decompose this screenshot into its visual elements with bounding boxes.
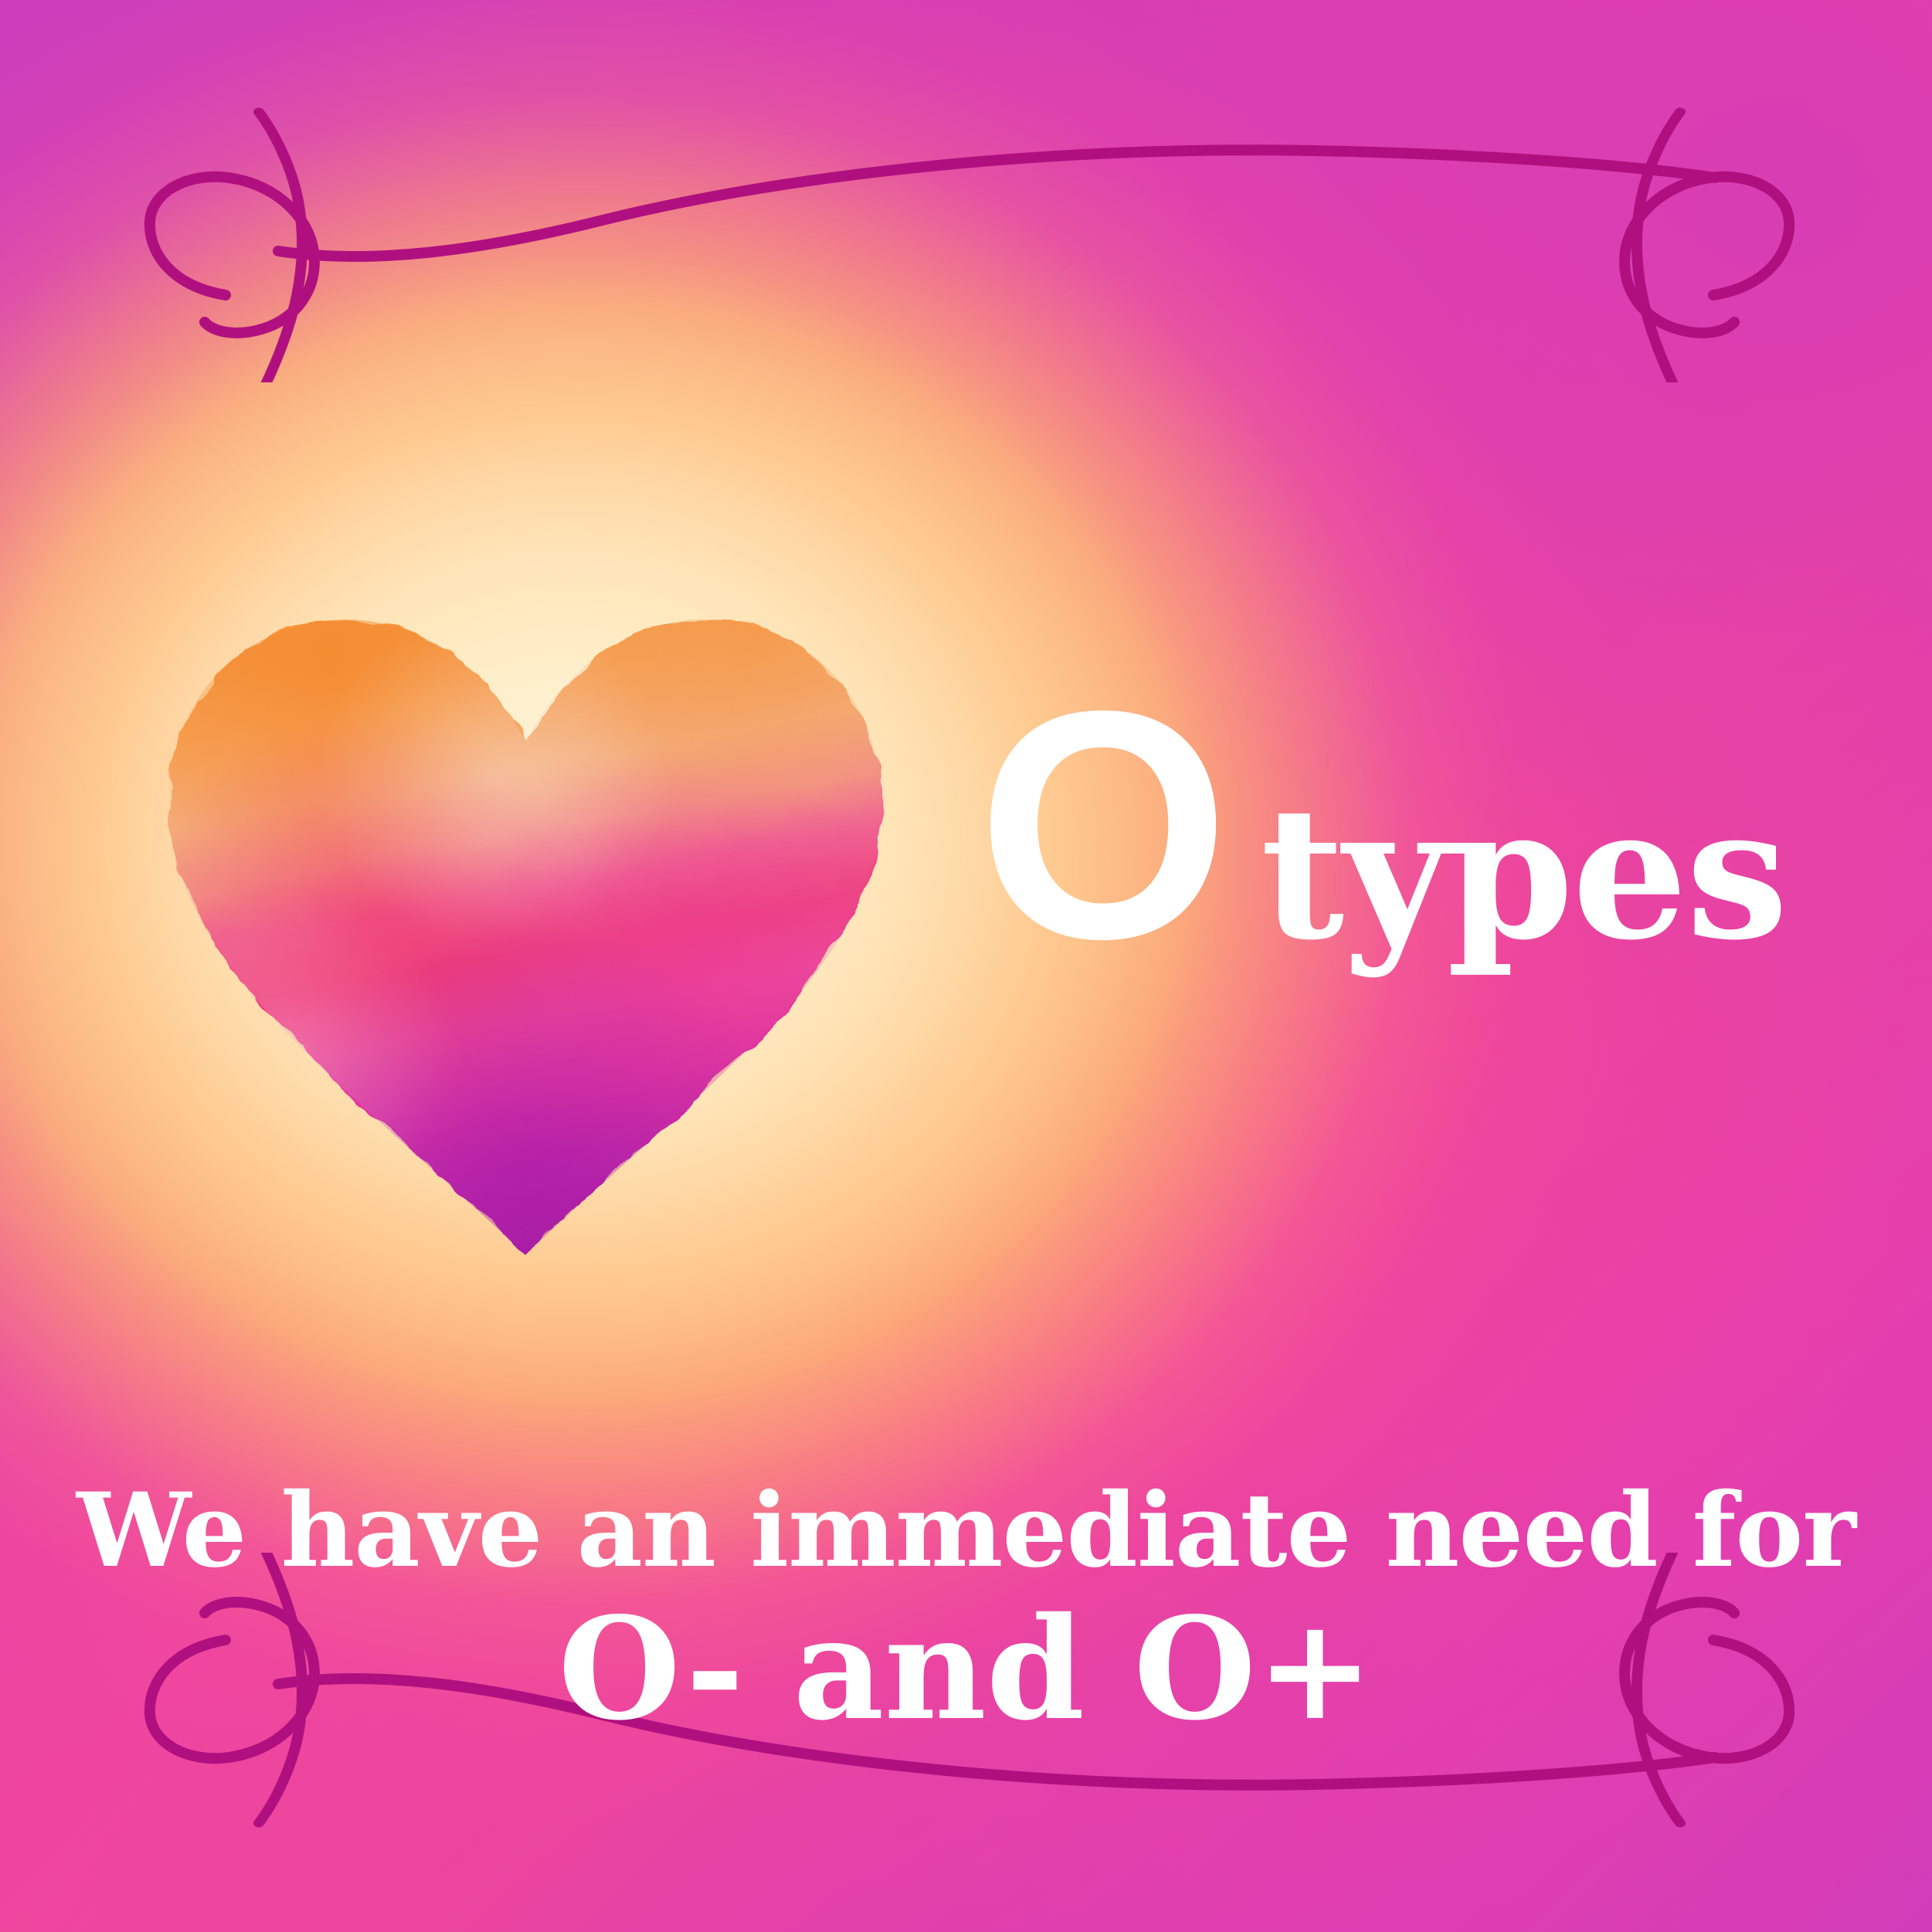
appeal-line-2: O- and O+ [0, 1598, 1932, 1741]
watercolor-heart-illustration [124, 533, 927, 1275]
appeal-line-1: We have an immediate need for [0, 1479, 1932, 1584]
blood-type-kicker: O types [977, 699, 1787, 952]
blood-type-letter: O [977, 699, 1225, 952]
heart-icon [124, 533, 927, 1275]
blood-type-suffix: types [1261, 803, 1787, 945]
poster-canvas: O types We have an immediate need for O-… [0, 0, 1932, 1932]
appeal-message: We have an immediate need for O- and O+ [0, 1479, 1932, 1740]
